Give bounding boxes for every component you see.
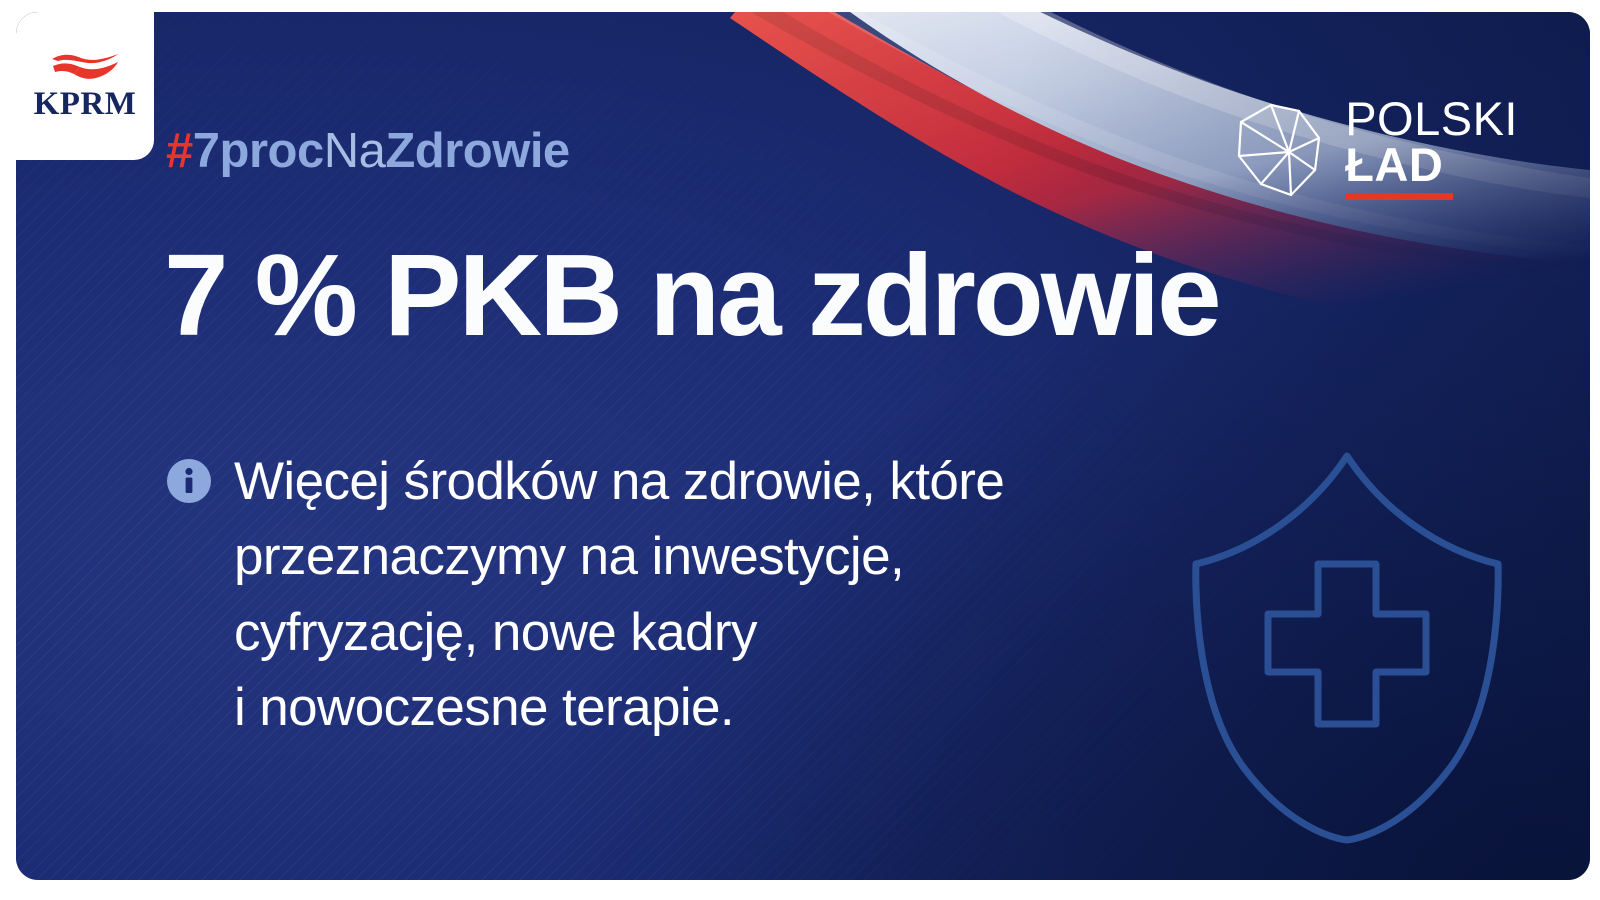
- polski-lad-red-rule: [1345, 193, 1453, 200]
- kprm-logo: KPRM: [16, 12, 154, 160]
- polski-lad-line-2: ŁAD: [1345, 141, 1518, 188]
- polski-lad-line-1: POLSKI: [1345, 96, 1518, 141]
- polski-lad-wordmark: POLSKI ŁAD: [1345, 96, 1518, 200]
- polski-lad-logo: POLSKI ŁAD: [1231, 96, 1518, 200]
- kprm-wordmark: KPRM: [34, 88, 137, 121]
- page-title: 7 % PKB na zdrowie: [164, 234, 1219, 357]
- hashtag-part-1: 7proc: [193, 124, 324, 178]
- hashtag-part-3: Zdrowie: [385, 124, 569, 178]
- body-callout: Więcej środków na zdrowie, które przezna…: [166, 444, 1004, 745]
- poster-canvas: POLSKI ŁAD #7procNaZdrowie 7 % PKB na zd…: [0, 0, 1600, 900]
- polski-lad-polygon-emblem-icon: [1231, 100, 1327, 200]
- hashtag-part-2: Na: [324, 124, 386, 178]
- poster-card: POLSKI ŁAD #7procNaZdrowie 7 % PKB na zd…: [16, 12, 1590, 880]
- info-circle-icon: [166, 458, 212, 504]
- hashtag-symbol: #: [166, 124, 193, 178]
- polish-flag-wave-icon: [48, 52, 122, 82]
- body-text: Więcej środków na zdrowie, które przezna…: [234, 444, 1004, 745]
- campaign-hashtag: #7procNaZdrowie: [166, 127, 570, 176]
